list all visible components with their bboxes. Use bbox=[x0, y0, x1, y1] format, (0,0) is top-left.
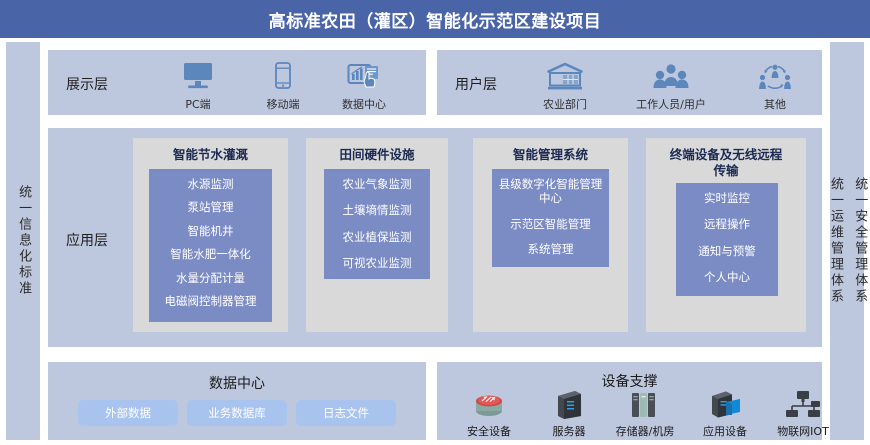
display-item-label: PC端 bbox=[185, 96, 210, 112]
app-column-title: 智能管理系统 bbox=[473, 147, 628, 163]
equipment-item-label: 安全设备 bbox=[467, 423, 511, 439]
app-column-field-hardware: 田间硬件设施 农业气象监测 土壤墒情监测 农业植保监测 可视农业监测 bbox=[306, 138, 448, 332]
display-item-mobile[interactable]: 移动端 bbox=[245, 58, 321, 112]
app-item[interactable]: 实时监控 bbox=[704, 191, 750, 205]
user-layer-panel: 用户层 农业部门 bbox=[437, 50, 822, 115]
user-item-label: 其他 bbox=[764, 96, 786, 112]
app-item[interactable]: 示范区智能管理 bbox=[510, 217, 591, 231]
equipment-item-label: 应用设备 bbox=[703, 423, 747, 439]
app-column-title: 智能节水灌溉 bbox=[133, 147, 288, 163]
monitor-icon bbox=[181, 58, 215, 92]
equipment-item-storage[interactable]: 存储器/机房 bbox=[605, 384, 685, 439]
app-item[interactable]: 个人中心 bbox=[704, 270, 750, 284]
user-item-other[interactable]: 其他 bbox=[737, 58, 813, 112]
people-group-icon bbox=[651, 58, 691, 92]
equipment-item-label: 存储器/机房 bbox=[616, 423, 675, 439]
app-item[interactable]: 远程操作 bbox=[704, 217, 750, 231]
app-item[interactable]: 农业植保监测 bbox=[343, 230, 412, 244]
app-item[interactable]: 水源监测 bbox=[188, 177, 234, 191]
application-layer-panel: 应用层 智能节水灌溉 水源监测 泵站管理 智能机井 智能水肥一体化 水量分配计量… bbox=[48, 128, 822, 347]
app-item[interactable]: 智能水肥一体化 bbox=[170, 247, 251, 261]
app-item[interactable]: 通知与预警 bbox=[698, 244, 756, 258]
equipment-item-app-device[interactable]: 应用设备 bbox=[685, 384, 765, 439]
data-center-chip-log-files[interactable]: 日志文件 bbox=[296, 400, 396, 426]
page-title-bar: 高标准农田（灌区）智能化示范区建设项目 bbox=[0, 0, 870, 38]
data-center-chip-business-db[interactable]: 业务数据库 bbox=[187, 400, 287, 426]
tablet-chart-icon bbox=[347, 58, 381, 92]
application-layer-label: 应用层 bbox=[66, 230, 108, 250]
people-cycle-icon bbox=[756, 58, 794, 92]
app-item[interactable]: 系统管理 bbox=[528, 242, 574, 256]
equipment-item-security[interactable]: 安全设备 bbox=[449, 384, 529, 439]
server-tower-icon bbox=[552, 384, 586, 420]
display-item-pc[interactable]: PC端 bbox=[160, 58, 236, 112]
display-item-label: 移动端 bbox=[267, 96, 300, 112]
left-rail-standards: 统一信息化标准 bbox=[6, 42, 40, 440]
app-column-items: 实时监控 远程操作 通知与预警 个人中心 bbox=[676, 183, 778, 296]
app-column-items: 县级数字化智能管理中心 示范区智能管理 系统管理 bbox=[492, 169, 609, 267]
router-security-icon bbox=[469, 384, 509, 420]
data-center-title: 数据中心 bbox=[48, 373, 426, 393]
app-column-items: 水源监测 泵站管理 智能机井 智能水肥一体化 水量分配计量 电磁阀控制器管理 bbox=[149, 169, 272, 322]
architecture-diagram: 高标准农田（灌区）智能化示范区建设项目 统一信息化标准 统一安全管理体系 统一运… bbox=[0, 0, 870, 445]
app-column-title: 田间硬件设施 bbox=[306, 147, 448, 163]
app-item[interactable]: 可视农业监测 bbox=[343, 256, 412, 270]
equipment-item-label: 物联网IOT bbox=[777, 423, 829, 439]
user-item-staff[interactable]: 工作人员/用户 bbox=[633, 58, 709, 112]
right-rail-label-security: 统一安全管理体系 bbox=[851, 177, 867, 305]
page-title: 高标准农田（灌区）智能化示范区建设项目 bbox=[269, 7, 602, 32]
data-center-chip-external[interactable]: 外部数据 bbox=[78, 400, 178, 426]
user-item-agriculture-dept[interactable]: 农业部门 bbox=[527, 58, 603, 112]
building-icon bbox=[545, 58, 585, 92]
app-column-management-system: 智能管理系统 县级数字化智能管理中心 示范区智能管理 系统管理 bbox=[473, 138, 628, 332]
right-rail-label-operations: 统一运维管理体系 bbox=[827, 177, 843, 305]
app-column-terminal-transmission: 终端设备及无线远程传输 实时监控 远程操作 通知与预警 个人中心 bbox=[646, 138, 806, 332]
app-item[interactable]: 农业气象监测 bbox=[343, 177, 412, 191]
user-item-label: 农业部门 bbox=[543, 96, 587, 112]
app-column-title: 终端设备及无线远程传输 bbox=[646, 147, 806, 178]
app-device-icon bbox=[706, 384, 744, 420]
equipment-item-label: 服务器 bbox=[553, 423, 586, 439]
iot-network-icon bbox=[783, 384, 823, 420]
display-item-datacenter[interactable]: 数据中心 bbox=[326, 58, 402, 112]
user-layer-label: 用户层 bbox=[455, 74, 497, 94]
equipment-item-iot[interactable]: 物联网IOT bbox=[763, 384, 843, 439]
app-column-items: 农业气象监测 土壤墒情监测 农业植保监测 可视农业监测 bbox=[324, 169, 430, 279]
left-rail-label: 统一信息化标准 bbox=[15, 185, 31, 297]
right-rail-management: 统一安全管理体系 统一运维管理体系 bbox=[830, 42, 864, 440]
app-item[interactable]: 泵站管理 bbox=[188, 200, 234, 214]
user-item-label: 工作人员/用户 bbox=[636, 96, 706, 112]
app-item[interactable]: 水量分配计量 bbox=[176, 271, 245, 285]
equipment-support-panel: 设备支撑 安全设备 bbox=[437, 362, 822, 440]
data-center-panel: 数据中心 外部数据 业务数据库 日志文件 bbox=[48, 362, 426, 440]
storage-rack-icon bbox=[625, 384, 665, 420]
equipment-item-server[interactable]: 服务器 bbox=[529, 384, 609, 439]
display-layer-panel: 展示层 PC端 移动端 bbox=[48, 50, 426, 115]
mobile-icon bbox=[272, 58, 294, 92]
app-item[interactable]: 电磁阀控制器管理 bbox=[165, 294, 257, 308]
app-column-smart-irrigation: 智能节水灌溉 水源监测 泵站管理 智能机井 智能水肥一体化 水量分配计量 电磁阀… bbox=[133, 138, 288, 332]
app-item[interactable]: 土壤墒情监测 bbox=[343, 203, 412, 217]
app-item[interactable]: 智能机井 bbox=[188, 224, 234, 238]
display-item-label: 数据中心 bbox=[342, 96, 386, 112]
app-item[interactable]: 县级数字化智能管理中心 bbox=[496, 177, 605, 206]
display-layer-label: 展示层 bbox=[66, 74, 108, 94]
